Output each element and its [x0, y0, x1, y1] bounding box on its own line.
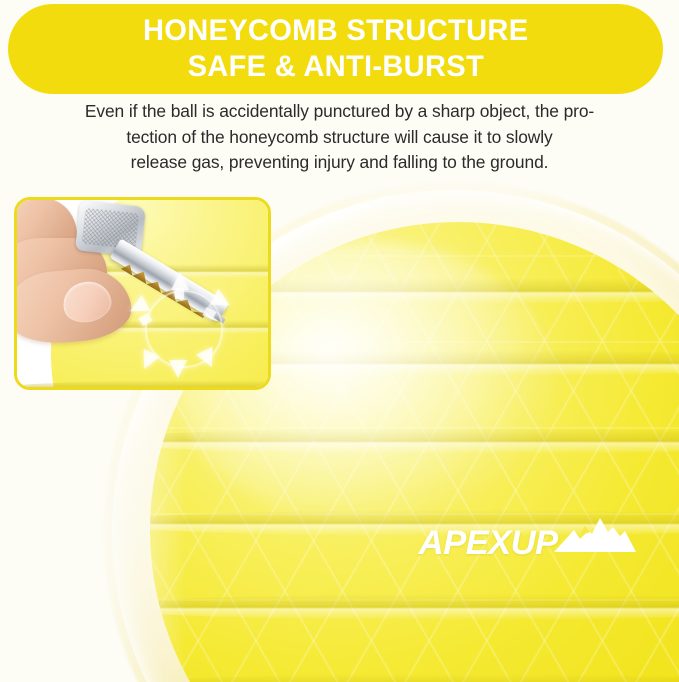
product-feature-image: HONEYCOMB STRUCTURE SAFE & ANTI-BURST Ev…: [0, 0, 679, 682]
brand-logo: APEXUP: [420, 514, 638, 560]
description-line-2: tection of the honeycomb structure will …: [26, 125, 653, 151]
gas-release-arrows-icon: [125, 274, 243, 386]
mountain-peak-icon: [552, 514, 638, 559]
description-line-3: release gas, preventing injury and falli…: [26, 150, 653, 176]
inset-scene: [17, 200, 268, 387]
headline-line-2: SAFE & ANTI-BURST: [187, 49, 483, 85]
headline-banner: HONEYCOMB STRUCTURE SAFE & ANTI-BURST: [8, 4, 663, 94]
inset-photo-puncture-demo: [14, 197, 271, 390]
description-text: Even if the ball is accidentally punctur…: [26, 99, 653, 176]
brand-name: APEXUP: [419, 526, 558, 560]
headline-line-1: HONEYCOMB STRUCTURE: [143, 13, 528, 49]
description-line-1: Even if the ball is accidentally punctur…: [26, 99, 653, 125]
